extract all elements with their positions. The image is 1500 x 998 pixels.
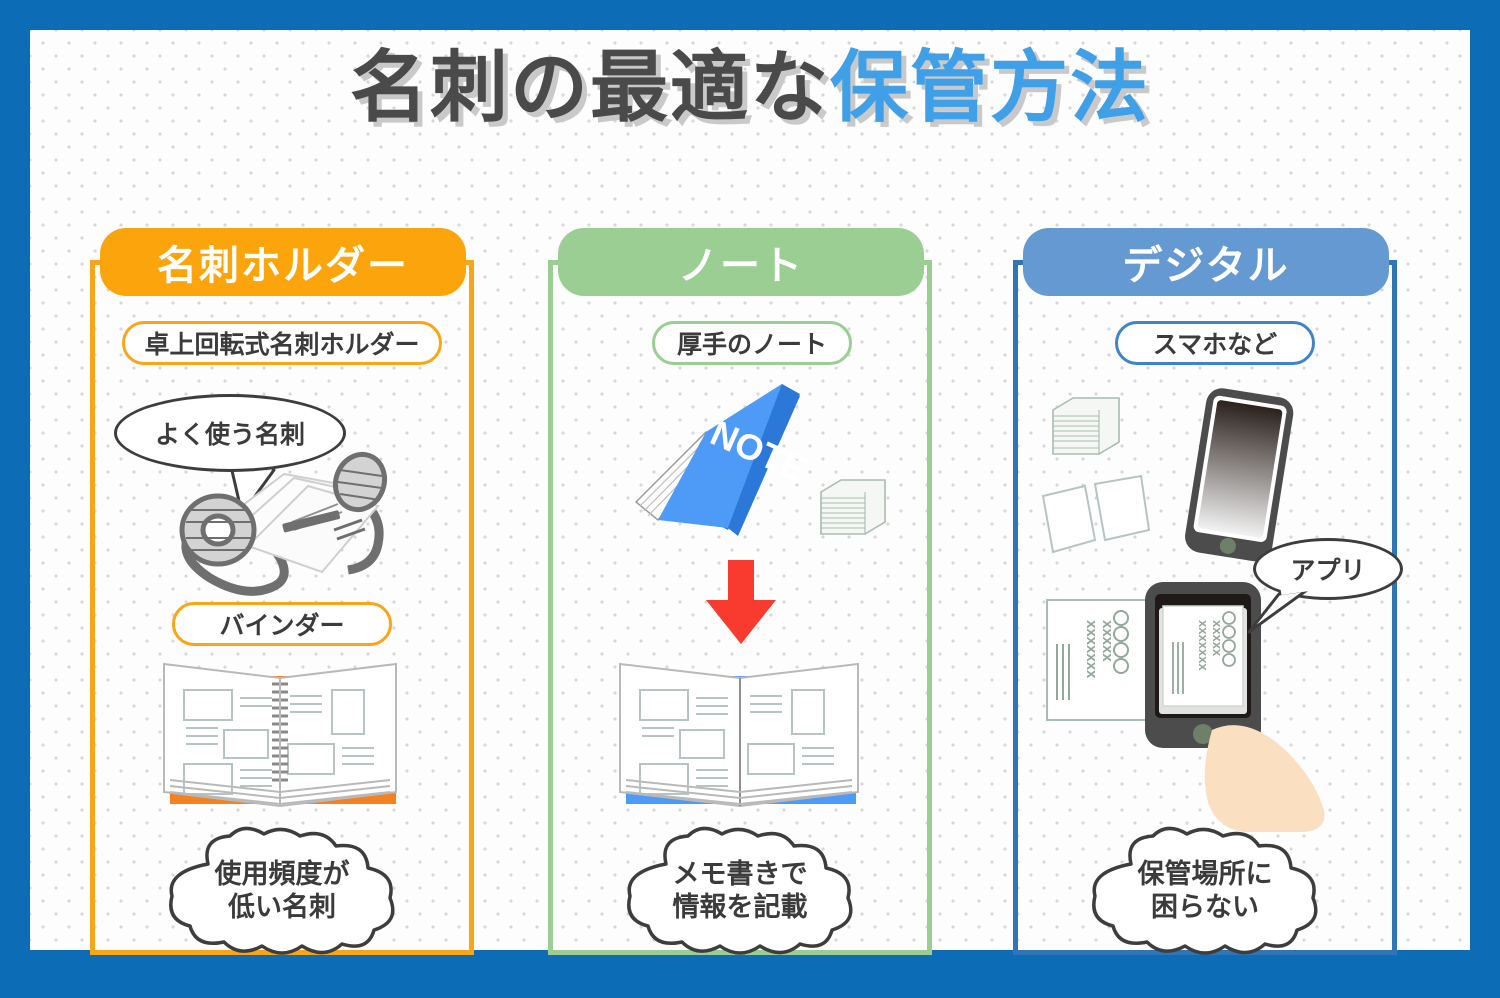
card-stack-icon bbox=[815, 478, 891, 540]
cloud-bubble-low-frequency: 使用頻度が 低い名刺 bbox=[152, 826, 412, 956]
svg-text:xxxxxxx: xxxxxxx bbox=[1083, 620, 1100, 679]
column-card-holder: 名刺ホルダー 卓上回転式名刺ホルダー よく使う名刺 bbox=[62, 228, 502, 950]
open-binder-icon bbox=[160, 656, 406, 811]
speech-bubble-frequently-used-cards: よく使う名刺 bbox=[114, 394, 346, 472]
pill-binder: バインダー bbox=[172, 602, 392, 646]
cloud-line-2: 低い名刺 bbox=[228, 891, 336, 924]
pill-thick-note: 厚手のノート bbox=[652, 321, 852, 365]
column-digital: デジタル スマホなど bbox=[985, 228, 1425, 950]
infographic-canvas: 名刺の最適な保管方法 名刺ホルダー 卓上回転式名刺ホルダー よく使う名刺 bbox=[0, 0, 1500, 998]
card-stack-icon bbox=[1047, 396, 1127, 462]
cloud-bubble-no-storage-trouble: 保管場所に 困らない bbox=[1075, 826, 1335, 956]
page-title-dark-part: 名刺の最適な bbox=[350, 43, 830, 131]
page-title-blue-part: 保管方法 bbox=[830, 43, 1150, 131]
dotted-background-panel: 名刺の最適な保管方法 名刺ホルダー 卓上回転式名刺ホルダー よく使う名刺 bbox=[30, 30, 1470, 950]
column-note: ノート 厚手のノート bbox=[520, 228, 960, 950]
svg-text:xxxxx: xxxxx bbox=[1099, 620, 1116, 662]
down-arrow-icon bbox=[702, 558, 780, 648]
page-title: 名刺の最適な保管方法 bbox=[30, 48, 1470, 126]
cloud-bubble-memo-info: メモ書きで 情報を記載 bbox=[610, 826, 870, 956]
business-card-icon bbox=[1037, 468, 1177, 558]
cloud-line-1: 保管場所に bbox=[1138, 858, 1273, 891]
column-header-digital: デジタル bbox=[1023, 228, 1389, 296]
finger-tap-icon bbox=[1200, 720, 1340, 840]
cloud-line-2: 困らない bbox=[1151, 891, 1259, 924]
column-header-note: ノート bbox=[558, 228, 924, 296]
svg-text:xxxxxxx: xxxxxxx bbox=[1196, 620, 1211, 671]
open-notebook-icon bbox=[616, 656, 866, 811]
cloud-line-1: 使用頻度が bbox=[215, 858, 350, 891]
svg-text:xxxxx: xxxxx bbox=[1210, 620, 1225, 657]
speech-bubble-tail-icon bbox=[1235, 584, 1325, 654]
cloud-line-1: メモ書きで bbox=[673, 858, 808, 891]
cloud-line-2: 情報を記載 bbox=[673, 891, 808, 924]
pill-rotary-card-holder: 卓上回転式名刺ホルダー bbox=[122, 321, 442, 365]
column-header-card-holder: 名刺ホルダー bbox=[100, 228, 466, 296]
pill-smartphone: スマホなど bbox=[1115, 321, 1315, 365]
note-book-icon: NOTE bbox=[632, 380, 842, 555]
smartphone-icon bbox=[1175, 386, 1305, 566]
